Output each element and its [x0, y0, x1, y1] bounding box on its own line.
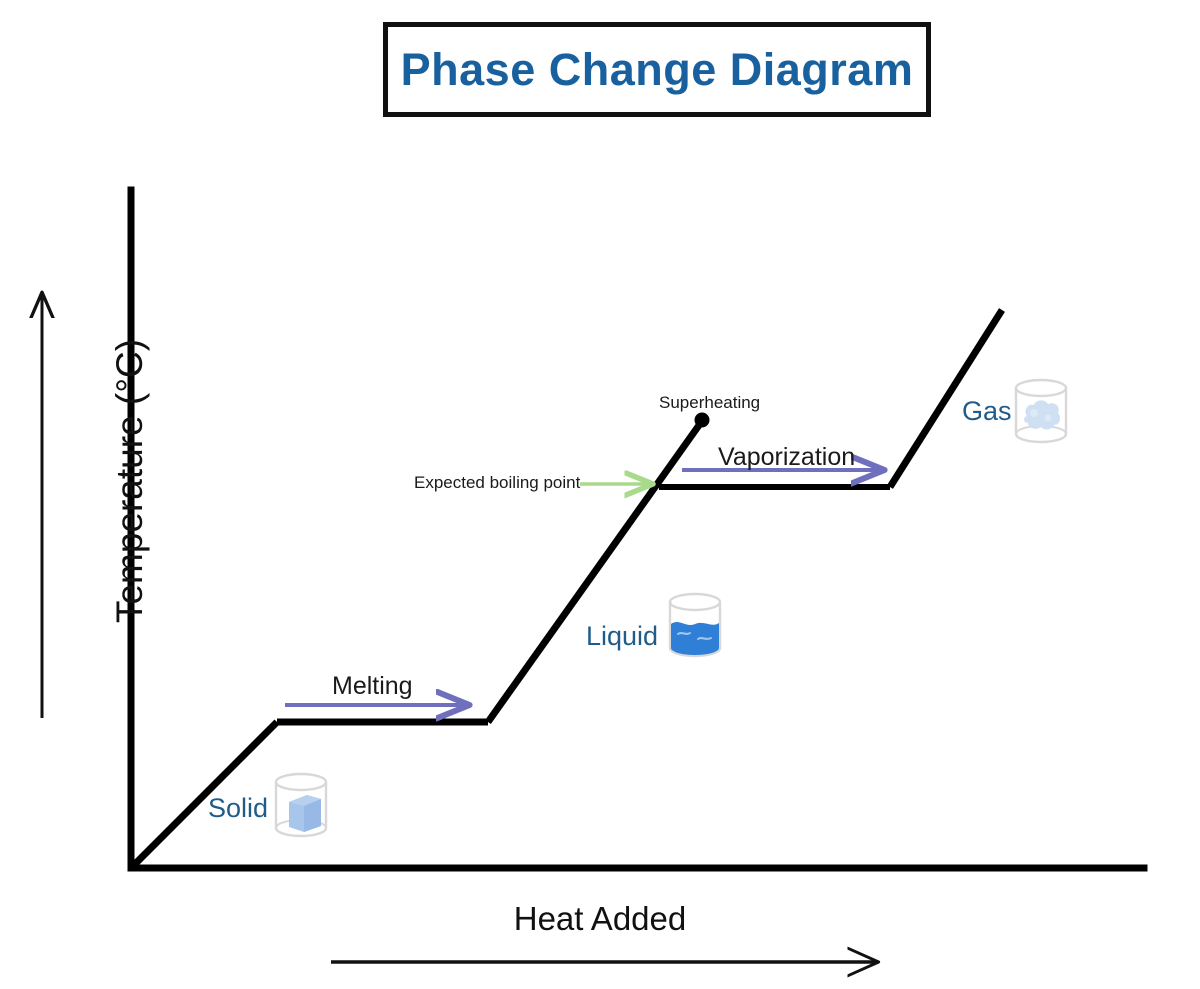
melting-label: Melting	[332, 672, 413, 701]
liquid-phase-label: Liquid	[586, 621, 658, 652]
solid-phase-label: Solid	[208, 793, 268, 824]
heating-curve	[131, 310, 1002, 868]
gas-phase-label: Gas	[962, 396, 1012, 427]
y-axis-label: Temperature (°C)	[109, 331, 151, 631]
expected-boiling-point-label: Expected boiling point	[414, 473, 580, 493]
solid-beaker-icon	[276, 774, 326, 836]
phase-change-diagram-canvas: Phase Change Diagram	[0, 0, 1200, 989]
axis-lines	[131, 190, 1144, 868]
x-axis-label: Heat Added	[0, 900, 1200, 938]
diagram-svg	[0, 0, 1200, 989]
vaporization-label: Vaporization	[718, 443, 855, 472]
superheating-label: Superheating	[659, 393, 760, 413]
liquid-beaker-icon	[670, 594, 720, 656]
gas-beaker-icon	[1016, 380, 1066, 442]
superheating-point	[695, 413, 710, 428]
